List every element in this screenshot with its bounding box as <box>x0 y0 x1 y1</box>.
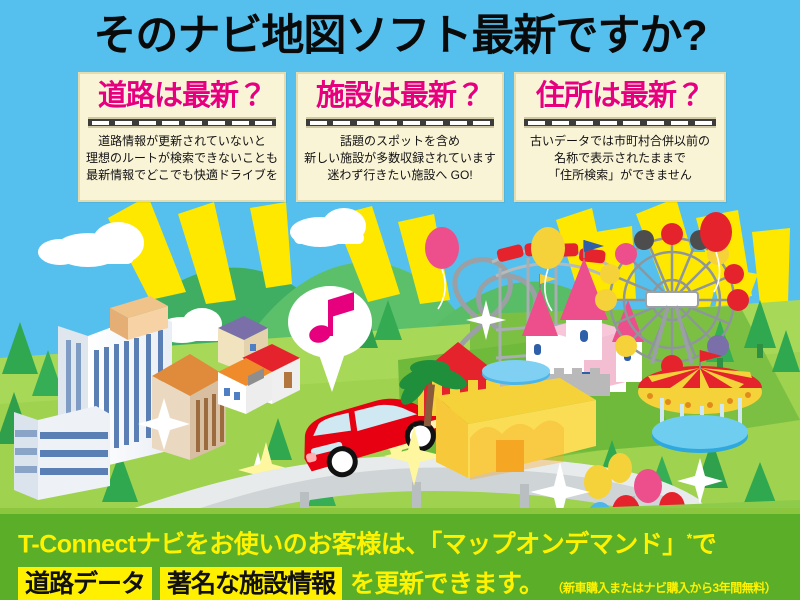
callout-body-line: 話題のスポットを含め <box>304 133 496 150</box>
road-divider-icon <box>524 117 716 128</box>
highlight-tag-road-data: 道路データ <box>18 567 152 600</box>
callout-box-facilities: 施設は最新？ 話題のスポットを含め 新しい施設が多数収録されています 迷わず行き… <box>296 72 504 202</box>
road-divider-icon <box>88 117 276 128</box>
callout-title-facilities: 施設は最新？ <box>304 78 496 114</box>
callout-body-line: 新しい施設が多数収録されています <box>304 150 496 167</box>
callout-body-line: 古いデータでは市町村合併以前の <box>522 133 718 150</box>
banner-suffix-text: を更新できます。 <box>350 564 544 600</box>
callout-body-line: 道路情報が更新されていないと <box>86 133 278 150</box>
bottom-banner: T-Connectナビをお使いのお客様は、「マップオンデマンド」*で 道路データ… <box>0 508 800 600</box>
banner-subline: 道路データ 著名な施設情報 を更新できます。 （新車購入またはナビ購入から3年間… <box>18 564 800 600</box>
callout-body-line: 迷わず行きたい施設へ GO! <box>304 167 496 184</box>
callout-box-group: 道路は最新？ 道路情報が更新されていないと 理想のルートが検索できないことも 最… <box>0 72 800 204</box>
balloon <box>584 465 612 499</box>
callout-title-roads: 道路は最新？ <box>86 78 278 114</box>
road-divider-icon <box>306 117 494 128</box>
water-ride <box>482 360 550 385</box>
callout-box-addresses: 住所は最新？ 古いデータでは市町村合併以前の 名称で表示されたままで 「住所検索… <box>514 72 726 202</box>
banner-headline: T-Connectナビをお使いのお客様は、「マップオンデマンド」*で <box>18 522 800 561</box>
callout-title-addresses: 住所は最新？ <box>522 78 718 114</box>
callout-body-line: 最新情報でどこでも快適ドライブを <box>86 167 278 184</box>
callout-body-line: 「住所検索」ができません <box>522 167 718 184</box>
callout-box-roads: 道路は最新？ 道路情報が更新されていないと 理想のルートが検索できないことも 最… <box>78 72 286 202</box>
callout-body-line: 名称で表示されたままで <box>522 150 718 167</box>
banner-headline-text: T-Connectナビをお使いのお客様は、「マップオンデマンド」 <box>18 530 687 558</box>
banner-fine-print: （新車購入またはナビ購入から3年間無料） <box>552 579 777 598</box>
advertisement-poster: そのナビ地図ソフト最新ですか? 道路は最新？ 道路情報が更新されていないと 理想… <box>0 0 800 600</box>
balloon <box>608 453 632 483</box>
low-rise-building <box>14 406 110 500</box>
banner-headline-suffix: で <box>692 530 717 558</box>
highlight-tag-facility-info: 著名な施設情報 <box>160 567 342 600</box>
page-title: そのナビ地図ソフト最新ですか? <box>0 8 800 64</box>
balloon <box>634 469 662 503</box>
callout-body-line: 理想のルートが検索できないことも <box>86 150 278 167</box>
